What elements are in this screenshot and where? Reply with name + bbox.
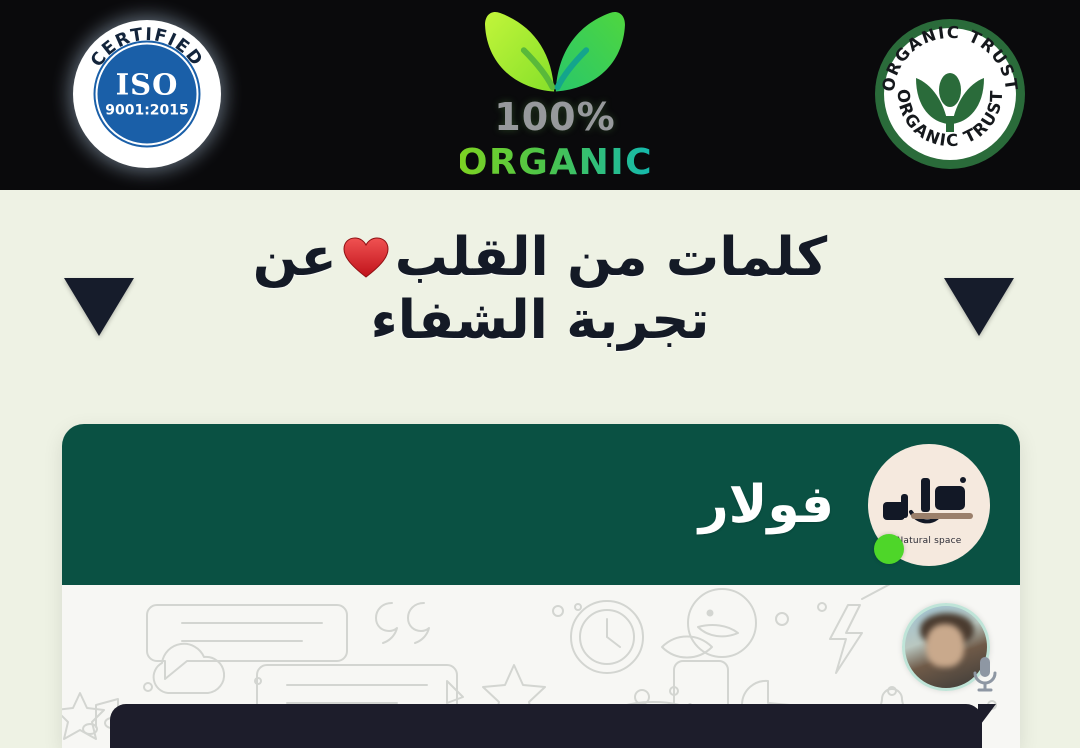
iso-label: ISO	[116, 71, 179, 100]
screenshot-root: CERTIFIED COMPANY ISO 9001:2015	[0, 0, 1080, 748]
arabic-calligraphy-icon	[877, 472, 981, 534]
iso-standard-number: 9001:2015	[105, 104, 189, 118]
leaf-icon	[466, 8, 644, 94]
chat-header-bar: فولار Natural space	[62, 424, 1020, 585]
headline-line2: تجربة الشفاء	[0, 291, 1080, 350]
headline-line1-part1: كلمات من القلب	[395, 227, 828, 288]
organic-logo: 100% ORGANIC	[440, 8, 670, 183]
iso-inner-circle: ISO 9001:2015	[96, 43, 199, 146]
iso-certified-badge: CERTIFIED COMPANY ISO 9001:2015	[73, 20, 221, 168]
headline-line1-part2: عن	[253, 227, 337, 288]
organic-percent-label: 100%	[494, 98, 615, 136]
chat-message-bubble	[110, 704, 982, 748]
sender-avatar-wrap[interactable]	[902, 603, 990, 691]
svg-text:ORGANIC: ORGANIC	[460, 142, 650, 183]
contact-name: فولار	[699, 475, 834, 535]
online-status-indicator	[874, 534, 904, 564]
arrow-down-left-icon	[64, 278, 134, 336]
page-headline: كلمات من القلبعن تجربة الشفاء	[0, 228, 1080, 351]
chat-screenshot-card: فولار Natural space	[62, 424, 1020, 748]
microphone-icon	[970, 655, 1000, 693]
contact-avatar-wrap[interactable]: Natural space	[868, 444, 990, 566]
organic-trust-svg: ORGANIC TRUST ORGANIC TRUST	[872, 16, 1028, 172]
organic-word-svg: ORGANIC	[460, 141, 650, 183]
arrow-down-right-icon	[944, 278, 1014, 336]
certification-badge-bar: CERTIFIED COMPANY ISO 9001:2015	[0, 0, 1080, 190]
photo-face-shape	[926, 624, 964, 667]
heart-icon	[343, 232, 389, 291]
chat-message-area	[62, 585, 1020, 748]
organic-trust-badge: ORGANIC TRUST ORGANIC TRUST	[872, 16, 1028, 172]
avatar-tagline: Natural space	[896, 536, 961, 546]
organic-word-label: ORGANIC	[460, 141, 650, 183]
